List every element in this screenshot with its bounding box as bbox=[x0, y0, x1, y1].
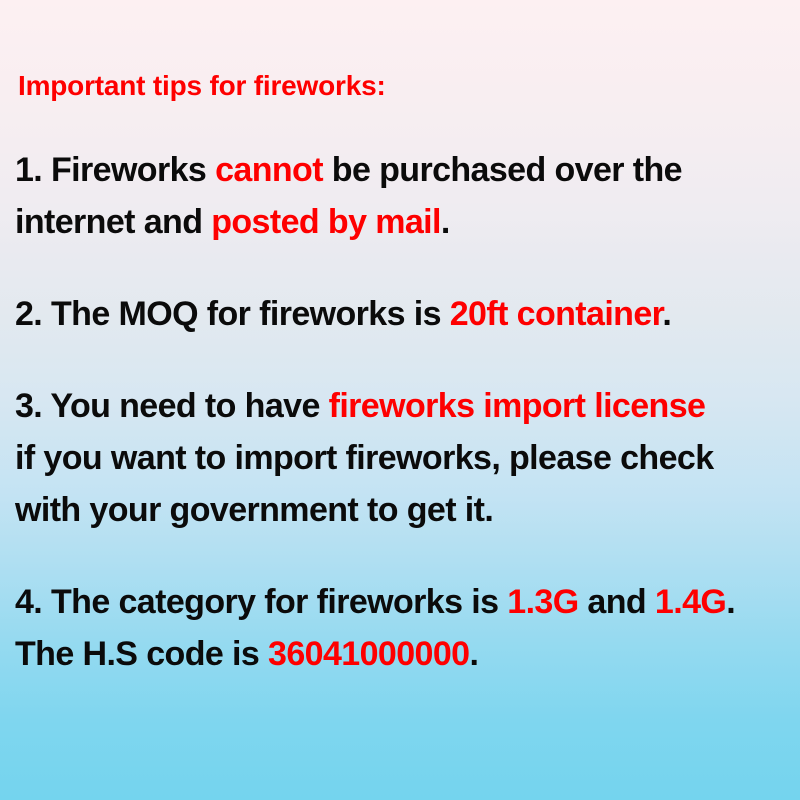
tip-item-1-line-2: internet and posted by mail. bbox=[15, 196, 780, 248]
tip-body-text: 4. The category for fireworks is bbox=[15, 583, 507, 621]
tip-item-4: 4. The category for fireworks is 1.3G an… bbox=[15, 576, 780, 628]
page-title: Important tips for fireworks: bbox=[18, 68, 780, 104]
tip-item-2: 2. The MOQ for fireworks is 20ft contain… bbox=[15, 288, 780, 340]
tip-item-3: 3. You need to have fireworks import lic… bbox=[15, 380, 780, 432]
tip-emphasis-text: fireworks import license bbox=[329, 387, 706, 425]
tip-body-text: . bbox=[662, 295, 671, 333]
tip-item-1: 1. Fireworks cannot be purchased over th… bbox=[15, 144, 780, 196]
tip-body-text: with your government to get it. bbox=[15, 491, 493, 529]
tip-emphasis-text: cannot bbox=[215, 151, 323, 189]
tip-emphasis-text: 1.4G bbox=[655, 583, 726, 621]
tip-body-text: . bbox=[726, 583, 735, 621]
tip-body-text: . bbox=[469, 635, 478, 673]
tip-emphasis-text: posted by mail bbox=[211, 203, 441, 241]
tip-body-text: internet and bbox=[15, 203, 211, 241]
tip-body-text: 2. The MOQ for fireworks is bbox=[15, 295, 450, 333]
tip-body-text: and bbox=[579, 583, 655, 621]
tip-body-text: be purchased over the bbox=[323, 151, 682, 189]
tip-body-text: 1. Fireworks bbox=[15, 151, 215, 189]
tip-emphasis-text: 36041000000 bbox=[268, 635, 469, 673]
tip-body-text: 3. You need to have bbox=[15, 387, 329, 425]
tip-item-3-line-3: with your government to get it. bbox=[15, 484, 780, 536]
tip-item-4-line-2: The H.S code is 36041000000. bbox=[15, 628, 780, 680]
tip-body-text: The H.S code is bbox=[15, 635, 268, 673]
tip-item-3-line-2: if you want to import fireworks, please … bbox=[15, 432, 780, 484]
tip-body-text: . bbox=[441, 203, 450, 241]
tip-emphasis-text: 1.3G bbox=[507, 583, 578, 621]
tip-body-text: if you want to import fireworks, please … bbox=[15, 439, 714, 477]
fireworks-tips-poster: Important tips for fireworks: 1. Firewor… bbox=[0, 0, 800, 800]
tips-list: 1. Fireworks cannot be purchased over th… bbox=[15, 144, 780, 680]
tip-emphasis-text: 20ft container bbox=[450, 295, 663, 333]
